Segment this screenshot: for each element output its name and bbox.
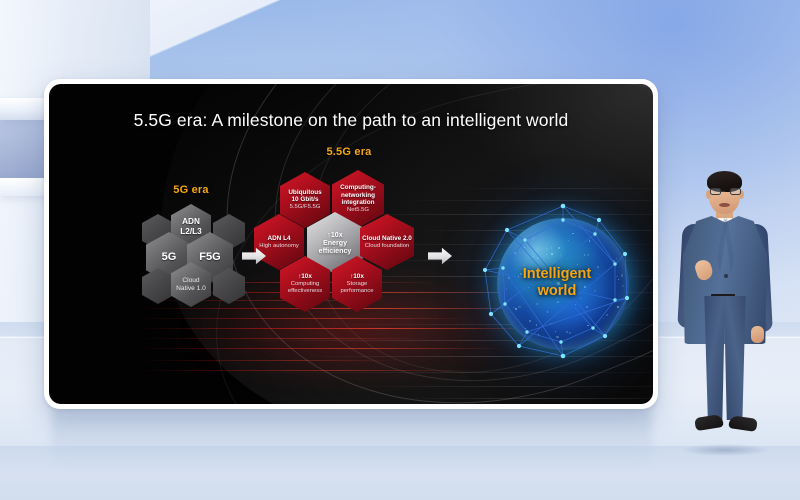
presenter-shadow [682,444,768,456]
hex-storage-performance-line1: ↑10x [350,273,364,280]
era-label-55g: 5.5G era [294,146,404,158]
glasses-bridge [721,191,725,192]
hex-f5g-line1: F5G [199,251,220,264]
globe-label-line2: world [467,283,647,300]
hex-cloud-native-1-line1: Cloud [182,277,199,285]
hex-adn-l4-line2: High autonomy [259,243,299,250]
slide-title: 5.5G era: A milestone on the path to an … [49,110,653,131]
globe-label-line1: Intelligent [467,266,647,283]
presenter-left-leg [703,296,725,420]
presenter-mouth [719,203,730,207]
presentation-display: 5.5G era: A milestone on the path to an … [44,79,658,409]
hex-computing-effectiveness-line2: Computing [291,281,320,288]
screen-reflection [52,410,652,468]
hex-cloud-native-2-line1: Cloud Native 2.0 [362,235,412,242]
hex-computing-networking-integration-line1: Computing- [340,184,376,191]
slide-surface: 5.5G era: A milestone on the path to an … [49,84,653,404]
hex-ubiquitous-10gbits-line3: 5.5G/F5.5G [290,204,321,211]
hex-energy-efficiency-line2: Energy efficiency [307,239,363,255]
hex-energy-efficiency-line1: ↑10x [327,231,342,239]
glasses-lens-right [730,188,741,195]
hex-computing-networking-integration-line4: Net5.5G [347,207,369,214]
hex-5g-line1: 5G [162,251,177,264]
presenter-resting-hand [751,326,764,343]
studio-scene: 5.5G era: A milestone on the path to an … [0,0,800,500]
hex-storage-performance-line2: Storage [347,281,368,288]
hex-cloud-native-1-line2: Native 1.0 [176,285,206,293]
hex-adn-l2-l3-line2: L2/L3 [180,227,201,236]
hex-storage-performance-line3: performance [340,288,373,295]
presenter-right-leg [724,296,747,420]
glasses-lens-left [710,188,721,195]
hex-computing-effectiveness-line3: effectiveness [288,288,322,295]
presenter [666,168,784,458]
presenter-jacket-button [724,274,728,278]
intelligent-world-globe: Intelligent world [467,194,647,394]
hex-computing-networking-integration-line3: integration [341,199,374,206]
hex-cloud-native-2-line2: Cloud foundation [365,243,410,250]
era-label-5g: 5G era [146,184,236,196]
presenter-right-shoe [728,415,758,432]
presenter-left-shoe [694,414,724,431]
globe-label: Intelligent world [467,266,647,300]
hex-ubiquitous-10gbits-line2: 10 Gbit/s [292,196,319,203]
hex-computing-effectiveness-line1: ↑10x [298,273,312,280]
hex-adn-l4-line1: ADN L4 [267,235,290,242]
hex-adn-l2-l3-line1: ADN [182,217,200,226]
hex-computing-networking-integration-line2: networking [341,192,375,199]
